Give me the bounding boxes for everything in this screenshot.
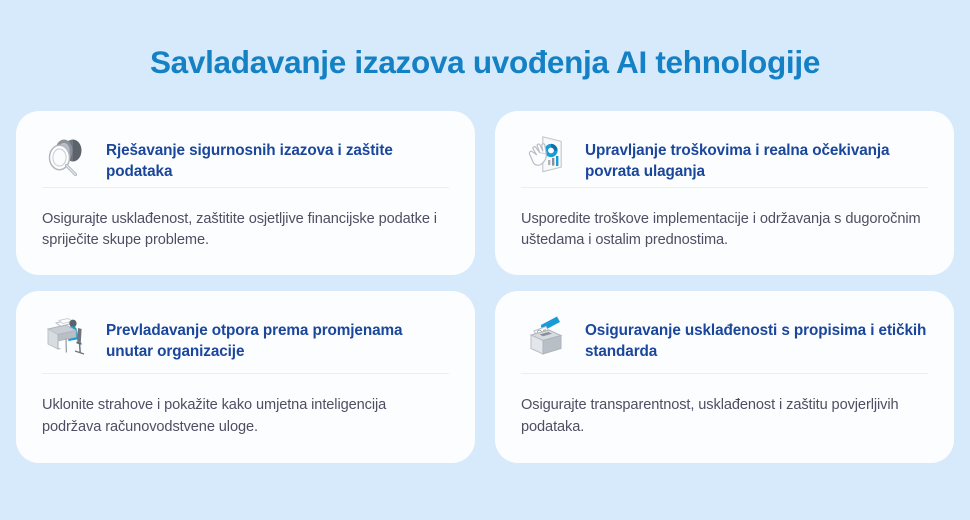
infographic-root: Savladavanje izazova uvođenja AI tehnolo… [0, 0, 970, 520]
card-title: Upravljanje troškovima i realna očekivan… [585, 135, 928, 182]
card-title: Prevladavanje otpora prema promjenama un… [106, 315, 449, 362]
card-overcoming-resistance[interactable]: Prevladavanje otpora prema promjenama un… [16, 291, 475, 463]
card-body: Osigurajte usklađenost, zaštitite osjetl… [42, 188, 449, 275]
card-title: Osiguravanje usklađenosti s propisima i … [585, 315, 928, 362]
card-grid: Rješavanje sigurnosnih izazova i zaštite… [16, 111, 954, 463]
card-body: Uklonite strahove i pokažite kako umjetn… [42, 374, 449, 463]
hand-holding-pie-chart-screen-icon [521, 133, 571, 181]
card-body: Osigurajte transparentnost, usklađenost … [521, 374, 928, 463]
card-header: Osiguravanje usklađenosti s propisima i … [521, 315, 928, 367]
ballot-box-with-document-icon [521, 313, 571, 361]
magnifying-glass-over-database-icon [42, 133, 92, 181]
card-title: Rješavanje sigurnosnih izazova i zaštite… [106, 135, 449, 182]
card-security-data-protection[interactable]: Rješavanje sigurnosnih izazova i zaštite… [16, 111, 475, 275]
card-cost-management-roi[interactable]: Upravljanje troškovima i realna očekivan… [495, 111, 954, 275]
page-title: Savladavanje izazova uvođenja AI tehnolo… [0, 0, 970, 82]
card-header: Upravljanje troškovima i realna očekivan… [521, 135, 928, 187]
card-header: Prevladavanje otpora prema promjenama un… [42, 315, 449, 367]
card-regulatory-compliance[interactable]: Osiguravanje usklađenosti s propisima i … [495, 291, 954, 463]
person-at-desk-icon [42, 313, 92, 361]
card-body: Usporedite troškove implementacije i odr… [521, 188, 928, 275]
card-header: Rješavanje sigurnosnih izazova i zaštite… [42, 135, 449, 187]
